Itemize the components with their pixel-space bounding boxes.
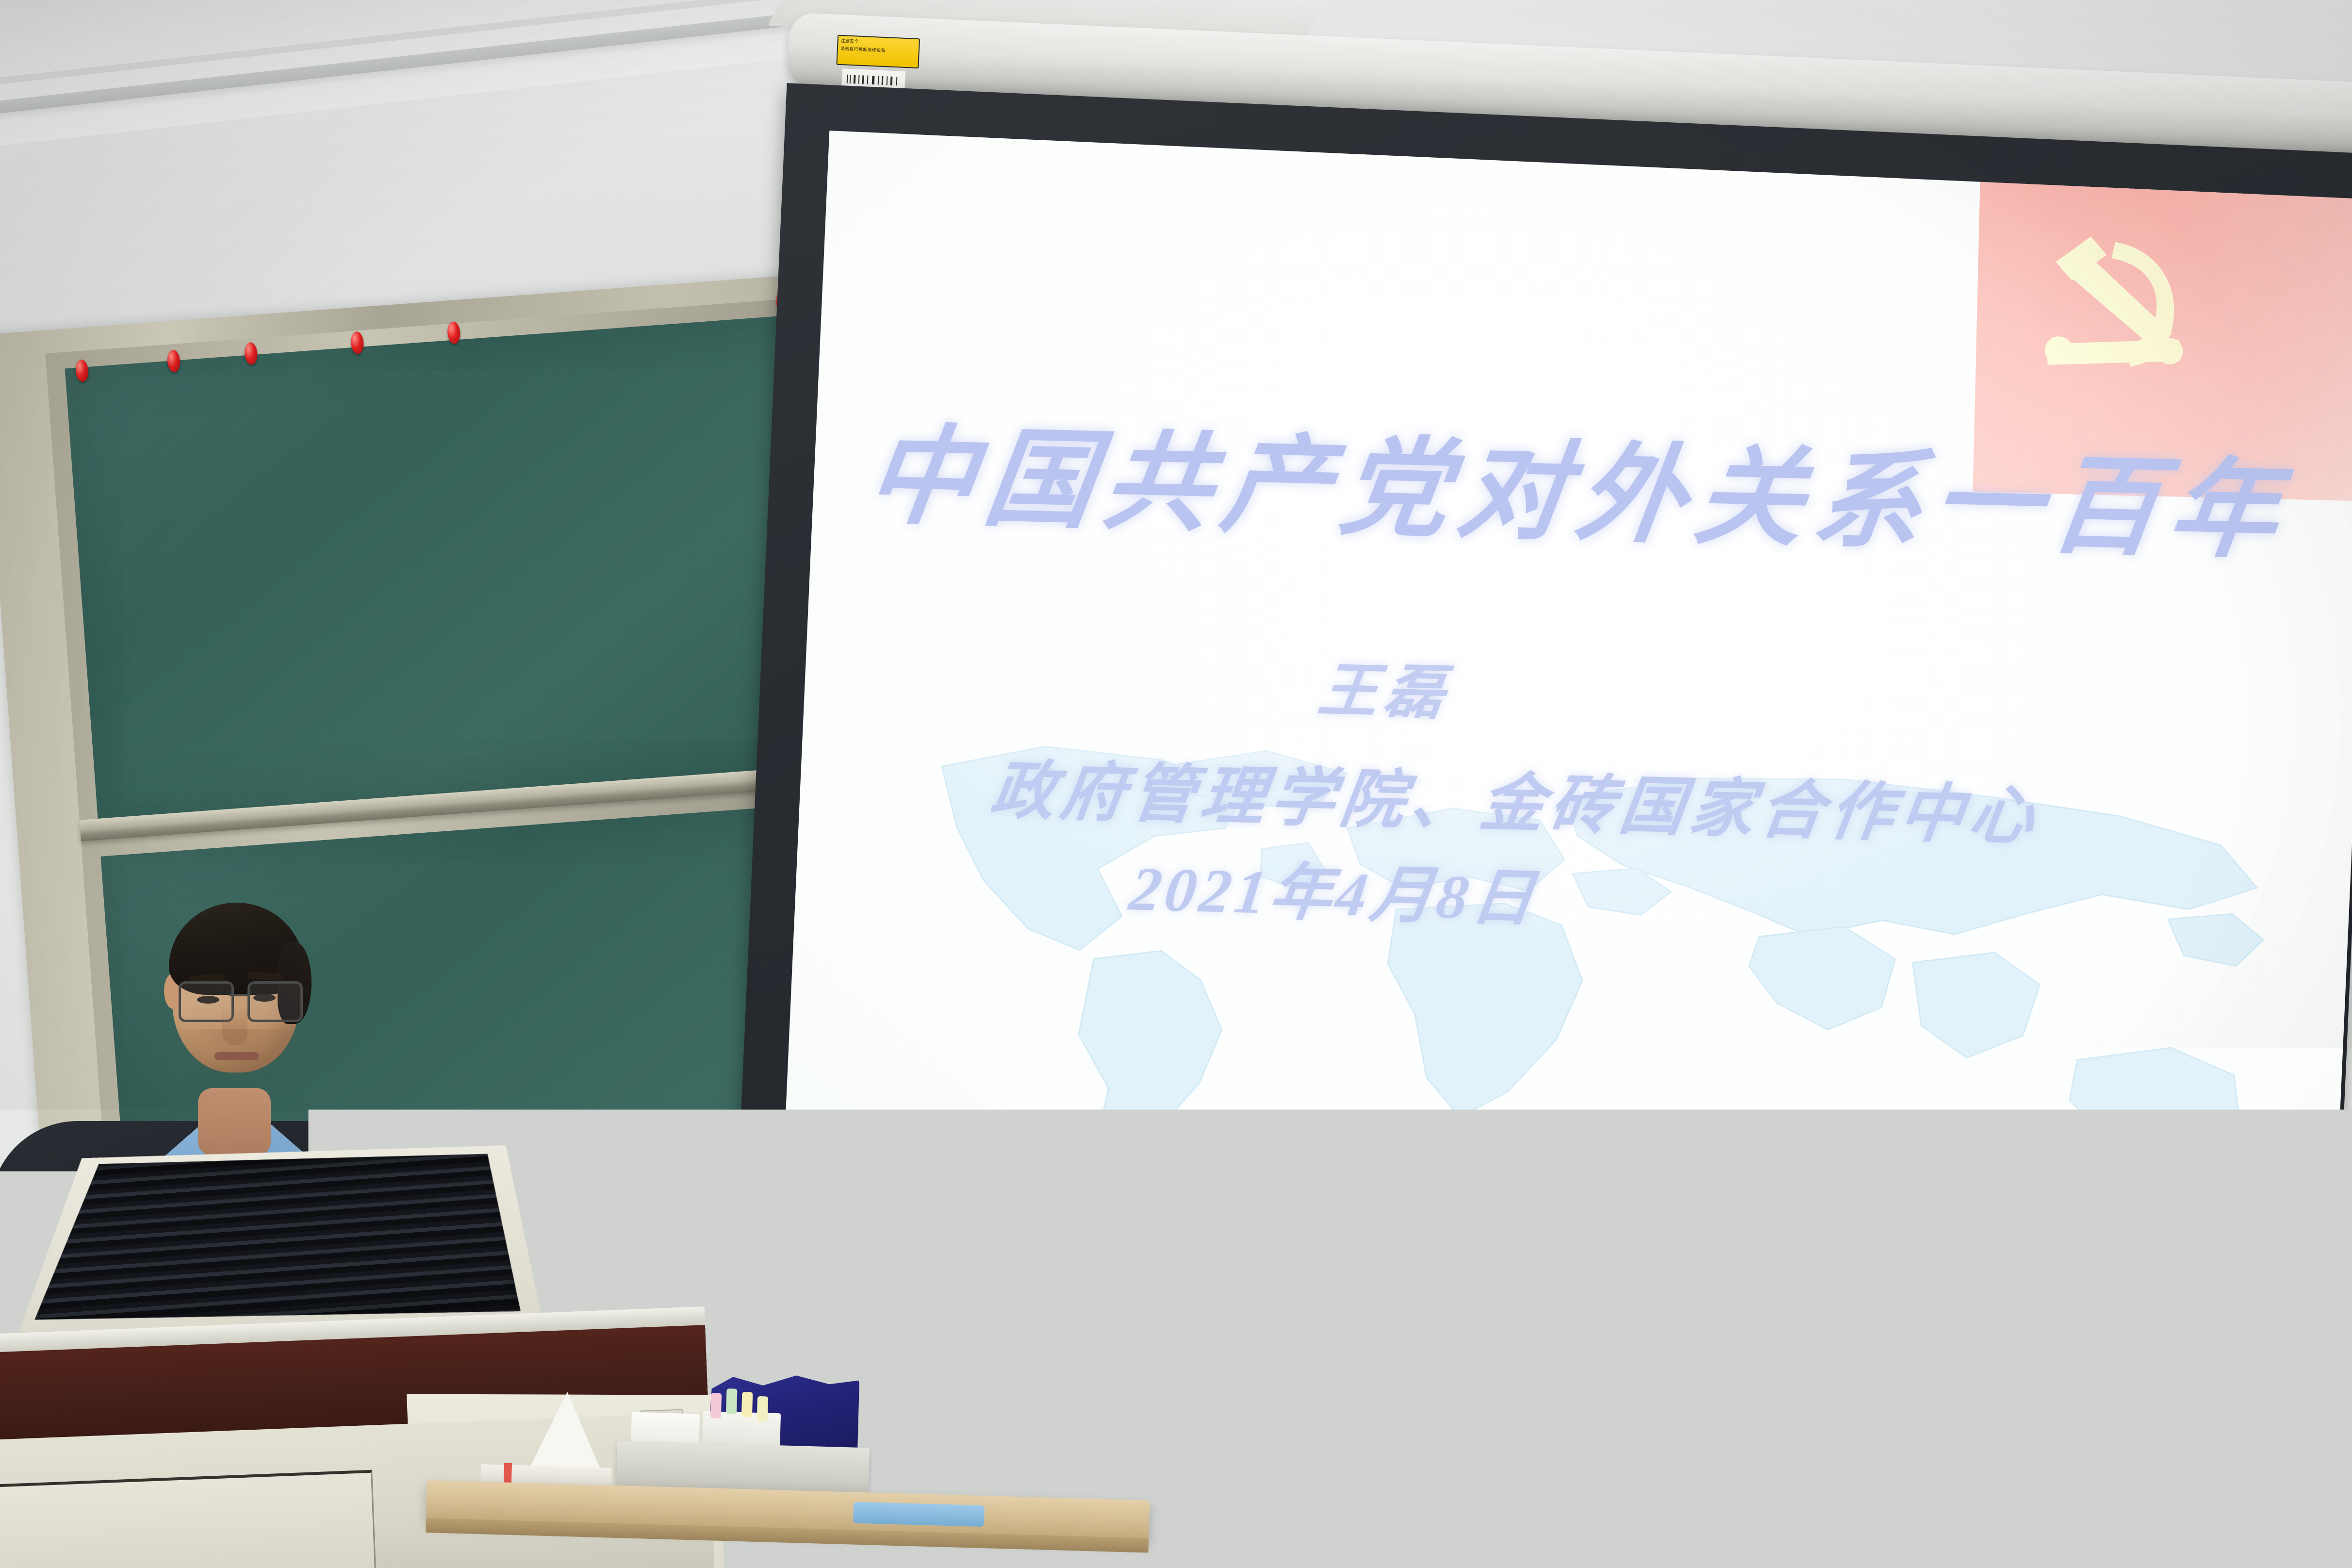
eyeglass-lens-right <box>247 981 303 1022</box>
projector-hood-bellows <box>30 1148 526 1330</box>
projector-hood <box>18 1141 543 1343</box>
projection-screen-assembly: 注意安全 请勿自行拆卸维修设备 <box>890 0 2352 1436</box>
eyeglass-bridge <box>229 994 248 996</box>
chalk-stick <box>741 1392 753 1418</box>
hammer-and-sickle-icon <box>2033 226 2201 385</box>
desk-leg <box>1043 1548 1082 1568</box>
slide-date: 2021年4月8日 <box>1125 838 1545 938</box>
chalk-stick <box>757 1396 768 1422</box>
slide-author: 王磊 <box>1314 642 1457 731</box>
warning-label: 注意安全 请勿自行拆卸维修设备 <box>836 35 920 69</box>
screenshot-root: 注意安全 请勿自行拆卸维修设备 <box>0 0 2352 1568</box>
blue-eraser <box>853 1502 985 1527</box>
presenter-nose <box>222 1007 247 1045</box>
lectern-drawer[interactable] <box>0 1470 377 1568</box>
chalk-stick <box>710 1393 722 1419</box>
presenter-neck <box>198 1088 271 1156</box>
chalk-stick <box>726 1388 737 1414</box>
presenter-mouth <box>214 1052 259 1060</box>
screen-projection-surface: 中国共产党对外关系一百年 王磊 政府管理学院、金砖国家合作中心 2021年4月8… <box>778 131 2352 1358</box>
